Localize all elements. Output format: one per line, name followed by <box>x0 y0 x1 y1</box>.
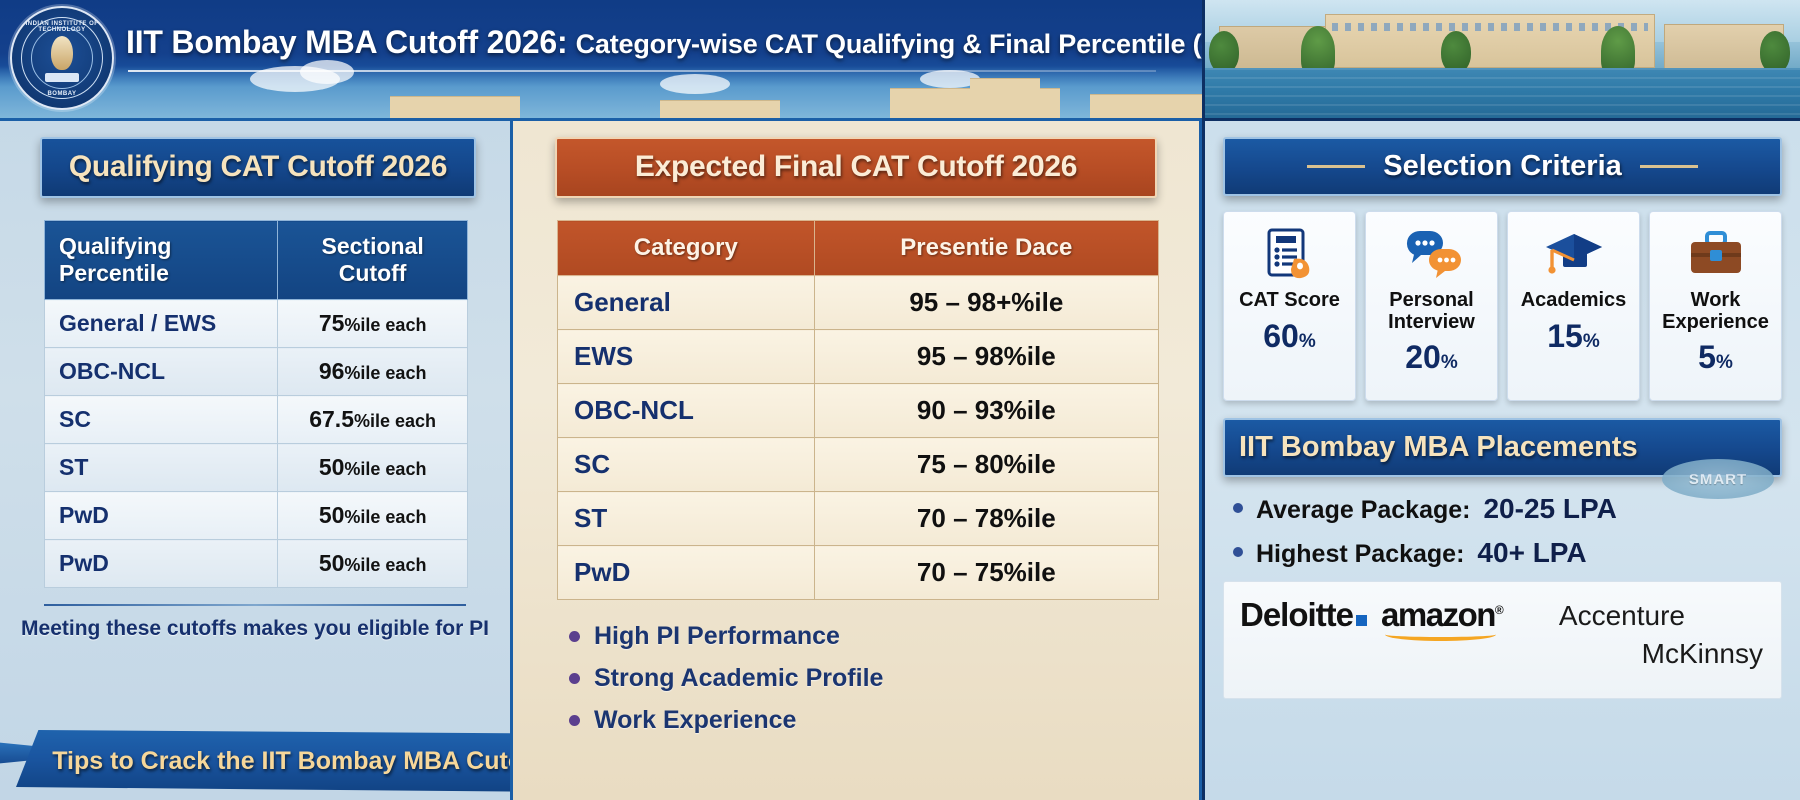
criteria-percent-unit: % <box>1299 331 1316 352</box>
cell-value-number: 70 – 75 <box>917 557 1004 587</box>
speech-bubbles-icon <box>1372 222 1491 284</box>
selection-criteria-cards: CAT Score 60% Personal Interview 20% <box>1223 211 1782 401</box>
qualifying-cutoff-banner-label: Qualifying CAT Cutoff 2026 <box>52 150 464 184</box>
criteria-card-percent: 15% <box>1514 318 1633 355</box>
banner-dash-right <box>1640 165 1698 168</box>
recruiter-logos: Deloitte amazon® Accenture McKinnsy <box>1223 581 1782 699</box>
bullet-dot-icon <box>569 673 580 684</box>
iit-bombay-crest-logo: INDIAN INSTITUTE OF TECHNOLOGY BOMBAY <box>10 6 114 110</box>
table-header-row: Qualifying Percentile Sectional Cutoff <box>45 221 468 300</box>
amazon-logo: amazon® <box>1381 596 1502 634</box>
table-row: OBC-NCL 90 – 93%ile <box>558 384 1159 438</box>
crest-top-text: INDIAN INSTITUTE OF TECHNOLOGY <box>12 21 112 33</box>
cell-value: 50%ile each <box>278 492 468 540</box>
criteria-percent-unit: % <box>1441 352 1458 373</box>
cell-value: 90 – 93%ile <box>814 384 1158 438</box>
cell-value-number: 96 <box>319 358 345 384</box>
cell-value: 95 – 98%ile <box>814 330 1158 384</box>
table-row: OBC-NCL 96%ile each <box>45 348 468 396</box>
bullet-dot-icon <box>569 631 580 642</box>
page-title-sub: Category-wise CAT Qualifying & Final Per… <box>576 29 1202 59</box>
registered-mark-icon: ® <box>1495 603 1502 617</box>
selection-criteria-banner: Selection Criteria <box>1223 137 1782 196</box>
bullet-dot-icon <box>569 715 580 726</box>
recruiter-logo-row: Deloitte amazon® <box>1240 596 1765 634</box>
expected-cutoff-table: Category Presentie Dace General 95 – 98+… <box>557 220 1159 600</box>
main-content-left: Qualifying CAT Cutoff 2026 Qualifying Pe… <box>0 118 1202 800</box>
qualifying-cutoff-panel: Qualifying CAT Cutoff 2026 Qualifying Pe… <box>0 121 510 800</box>
accenture-logo: Accenture <box>1559 600 1685 632</box>
cell-value: 70 – 78%ile <box>814 492 1158 546</box>
crest-bottom-text: BOMBAY <box>12 91 112 97</box>
cell-category: PwD <box>45 492 278 540</box>
table-header-row: Category Presentie Dace <box>558 221 1159 276</box>
criteria-card-percent: 60% <box>1230 318 1349 355</box>
list-item: High PI Performance <box>569 622 1177 651</box>
cell-value-unit: %ile each <box>344 507 426 527</box>
table-row: ST 50%ile each <box>45 444 468 492</box>
cell-value-unit: %ile <box>1004 395 1056 425</box>
placements-list: Average Package: 20-25 LPA Highest Packa… <box>1233 493 1782 569</box>
cell-value: 50%ile each <box>278 444 468 492</box>
main-content-right: Selection Criteria CAT Score <box>1202 118 1800 800</box>
cell-value: 96%ile each <box>278 348 468 396</box>
cell-value: 75 – 80%ile <box>814 438 1158 492</box>
briefcase-icon <box>1656 222 1775 284</box>
cell-value-number: 95 – 98 <box>917 341 1004 371</box>
cell-value-unit: %ile <box>1004 557 1056 587</box>
cell-category: PwD <box>558 546 815 600</box>
table-row: PwD 50%ile each <box>45 492 468 540</box>
cell-value-number: 70 – 78 <box>917 503 1004 533</box>
cell-value-unit: %ile <box>1004 341 1056 371</box>
placement-label: Average Package: <box>1256 496 1470 525</box>
list-item: Strong Academic Profile <box>569 664 1177 693</box>
qualifying-cutoff-banner: Qualifying CAT Cutoff 2026 <box>40 137 476 198</box>
cell-value: 75%ile each <box>278 300 468 348</box>
criteria-percent-number: 15 <box>1547 318 1583 354</box>
cell-value-number: 50 <box>319 454 345 480</box>
expected-cutoff-bullet-list: High PI Performance Strong Academic Prof… <box>569 622 1177 735</box>
cell-category: SC <box>45 396 278 444</box>
column-header-percentile-range: Presentie Dace <box>814 221 1158 276</box>
eligibility-note: Meeting these cutoffs makes you eligible… <box>20 617 490 641</box>
table-row: PwD 50%ile each <box>45 540 468 588</box>
cell-category: EWS <box>558 330 815 384</box>
criteria-card-personal-interview: Personal Interview 20% <box>1365 211 1498 401</box>
cell-value: 50%ile each <box>278 540 468 588</box>
mckinsey-logo: McKinnsy <box>1642 638 1763 670</box>
deloitte-logo-label: Deloitte <box>1240 596 1353 633</box>
watermark-logo: SMART <box>1662 459 1774 499</box>
tips-banner-label: Tips to Crack the IIT Bombay MBA Cutoff <box>16 730 576 792</box>
criteria-card-label: CAT Score <box>1230 290 1349 312</box>
cell-category: SC <box>558 438 815 492</box>
infographic-root: INDIAN INSTITUTE OF TECHNOLOGY BOMBAY II… <box>0 0 1800 800</box>
criteria-card-label: Personal Interview <box>1372 290 1491 333</box>
bullet-dot-icon <box>1233 503 1243 513</box>
cell-category: PwD <box>45 540 278 588</box>
qualifying-cutoff-table: Qualifying Percentile Sectional Cutoff G… <box>44 220 468 588</box>
deloitte-logo: Deloitte <box>1240 596 1367 634</box>
list-item-label: High PI Performance <box>594 622 840 651</box>
cell-value-number: 75 – 80 <box>917 449 1004 479</box>
hero-lake <box>1205 68 1800 118</box>
graduation-cap-icon <box>1514 222 1633 284</box>
checklist-icon <box>1230 222 1349 284</box>
cell-value-unit: %ile <box>1004 503 1056 533</box>
cell-value-number: 95 – 98+ <box>909 287 1011 317</box>
campus-photo <box>1202 0 1800 118</box>
qualifying-table-body: General / EWS 75%ile each OBC-NCL 96%ile… <box>45 300 468 588</box>
placement-amount: 40+ LPA <box>1477 537 1586 569</box>
expected-cutoff-panel: Expected Final CAT Cutoff 2026 Category … <box>510 121 1202 800</box>
cell-value-unit: %ile each <box>344 555 426 575</box>
column-header-category: Category <box>558 221 815 276</box>
bullet-dot-icon <box>1233 547 1243 557</box>
criteria-card-academics: Academics 15% <box>1507 211 1640 401</box>
page-title: IIT Bombay MBA Cutoff 2026: Category-wis… <box>126 24 1184 61</box>
watermark-label: SMART <box>1689 471 1747 488</box>
criteria-percent-unit: % <box>1716 352 1733 373</box>
cell-category: General / EWS <box>45 300 278 348</box>
table-row: EWS 95 – 98%ile <box>558 330 1159 384</box>
cell-value-unit: %ile each <box>344 363 426 383</box>
selection-criteria-banner-label: Selection Criteria <box>1383 150 1622 183</box>
cell-value-unit: %ile each <box>344 315 426 335</box>
criteria-card-work-experience: Work Experience 5% <box>1649 211 1782 401</box>
banner-dash-left <box>1307 165 1365 168</box>
criteria-percent-unit: % <box>1583 331 1600 352</box>
list-item-label: Work Experience <box>594 706 796 735</box>
expected-table-body: General 95 – 98+%ile EWS 95 – 98%ile OBC… <box>558 276 1159 600</box>
column-header-qualifying-percentile: Qualifying Percentile <box>45 221 278 300</box>
criteria-card-percent: 20% <box>1372 339 1491 376</box>
criteria-card-percent: 5% <box>1656 339 1775 376</box>
expected-cutoff-banner: Expected Final CAT Cutoff 2026 <box>555 137 1157 198</box>
tree-icon <box>1760 31 1790 73</box>
cell-value-number: 67.5 <box>309 406 354 432</box>
criteria-percent-number: 5 <box>1698 339 1716 375</box>
table-row: General 95 – 98+%ile <box>558 276 1159 330</box>
cell-value: 70 – 75%ile <box>814 546 1158 600</box>
list-item: Work Experience <box>569 706 1177 735</box>
header-divider <box>128 70 1156 72</box>
criteria-card-cat-score: CAT Score 60% <box>1223 211 1356 401</box>
criteria-card-label: Work Experience <box>1656 290 1775 333</box>
note-divider <box>44 604 466 606</box>
cell-category: ST <box>558 492 815 546</box>
table-row: SC 75 – 80%ile <box>558 438 1159 492</box>
page-title-main: IIT Bombay MBA Cutoff 2026: <box>126 24 567 60</box>
table-row: SC 67.5%ile each <box>45 396 468 444</box>
cell-value-number: 50 <box>319 502 345 528</box>
cell-category: OBC-NCL <box>45 348 278 396</box>
placement-amount: 20-25 LPA <box>1483 493 1616 525</box>
criteria-percent-number: 60 <box>1263 318 1299 354</box>
cell-value-number: 75 <box>319 310 345 336</box>
criteria-percent-number: 20 <box>1405 339 1441 375</box>
cell-value-unit: %ile <box>1011 287 1063 317</box>
cell-value-unit: %ile <box>1004 449 1056 479</box>
placements-banner-label: IIT Bombay MBA Placements <box>1239 431 1766 464</box>
amazon-smile-icon <box>1385 628 1496 641</box>
cell-value: 67.5%ile each <box>278 396 468 444</box>
table-row: PwD 70 – 75%ile <box>558 546 1159 600</box>
cell-value-unit: %ile each <box>354 411 436 431</box>
cell-value-number: 90 – 93 <box>917 395 1004 425</box>
table-row: General / EWS 75%ile each <box>45 300 468 348</box>
cell-category: General <box>558 276 815 330</box>
deloitte-dot-icon <box>1356 615 1367 626</box>
table-row: ST 70 – 78%ile <box>558 492 1159 546</box>
tree-icon <box>1441 31 1471 73</box>
list-item-label: Strong Academic Profile <box>594 664 883 693</box>
expected-cutoff-banner-label: Expected Final CAT Cutoff 2026 <box>567 150 1145 184</box>
cell-value-number: 50 <box>319 550 345 576</box>
cell-value-unit: %ile each <box>344 459 426 479</box>
placement-label: Highest Package: <box>1256 540 1464 569</box>
header-banner: INDIAN INSTITUTE OF TECHNOLOGY BOMBAY II… <box>0 0 1202 118</box>
list-item: Highest Package: 40+ LPA <box>1233 537 1782 569</box>
cell-category: OBC-NCL <box>558 384 815 438</box>
column-header-sectional-cutoff: Sectional Cutoff <box>278 221 468 300</box>
tips-banner: Tips to Crack the IIT Bombay MBA Cutoff <box>16 730 576 792</box>
criteria-card-label: Academics <box>1514 290 1633 312</box>
campus-skyline <box>330 72 1202 118</box>
cell-category: ST <box>45 444 278 492</box>
tree-icon <box>1209 31 1239 73</box>
cell-value: 95 – 98+%ile <box>814 276 1158 330</box>
